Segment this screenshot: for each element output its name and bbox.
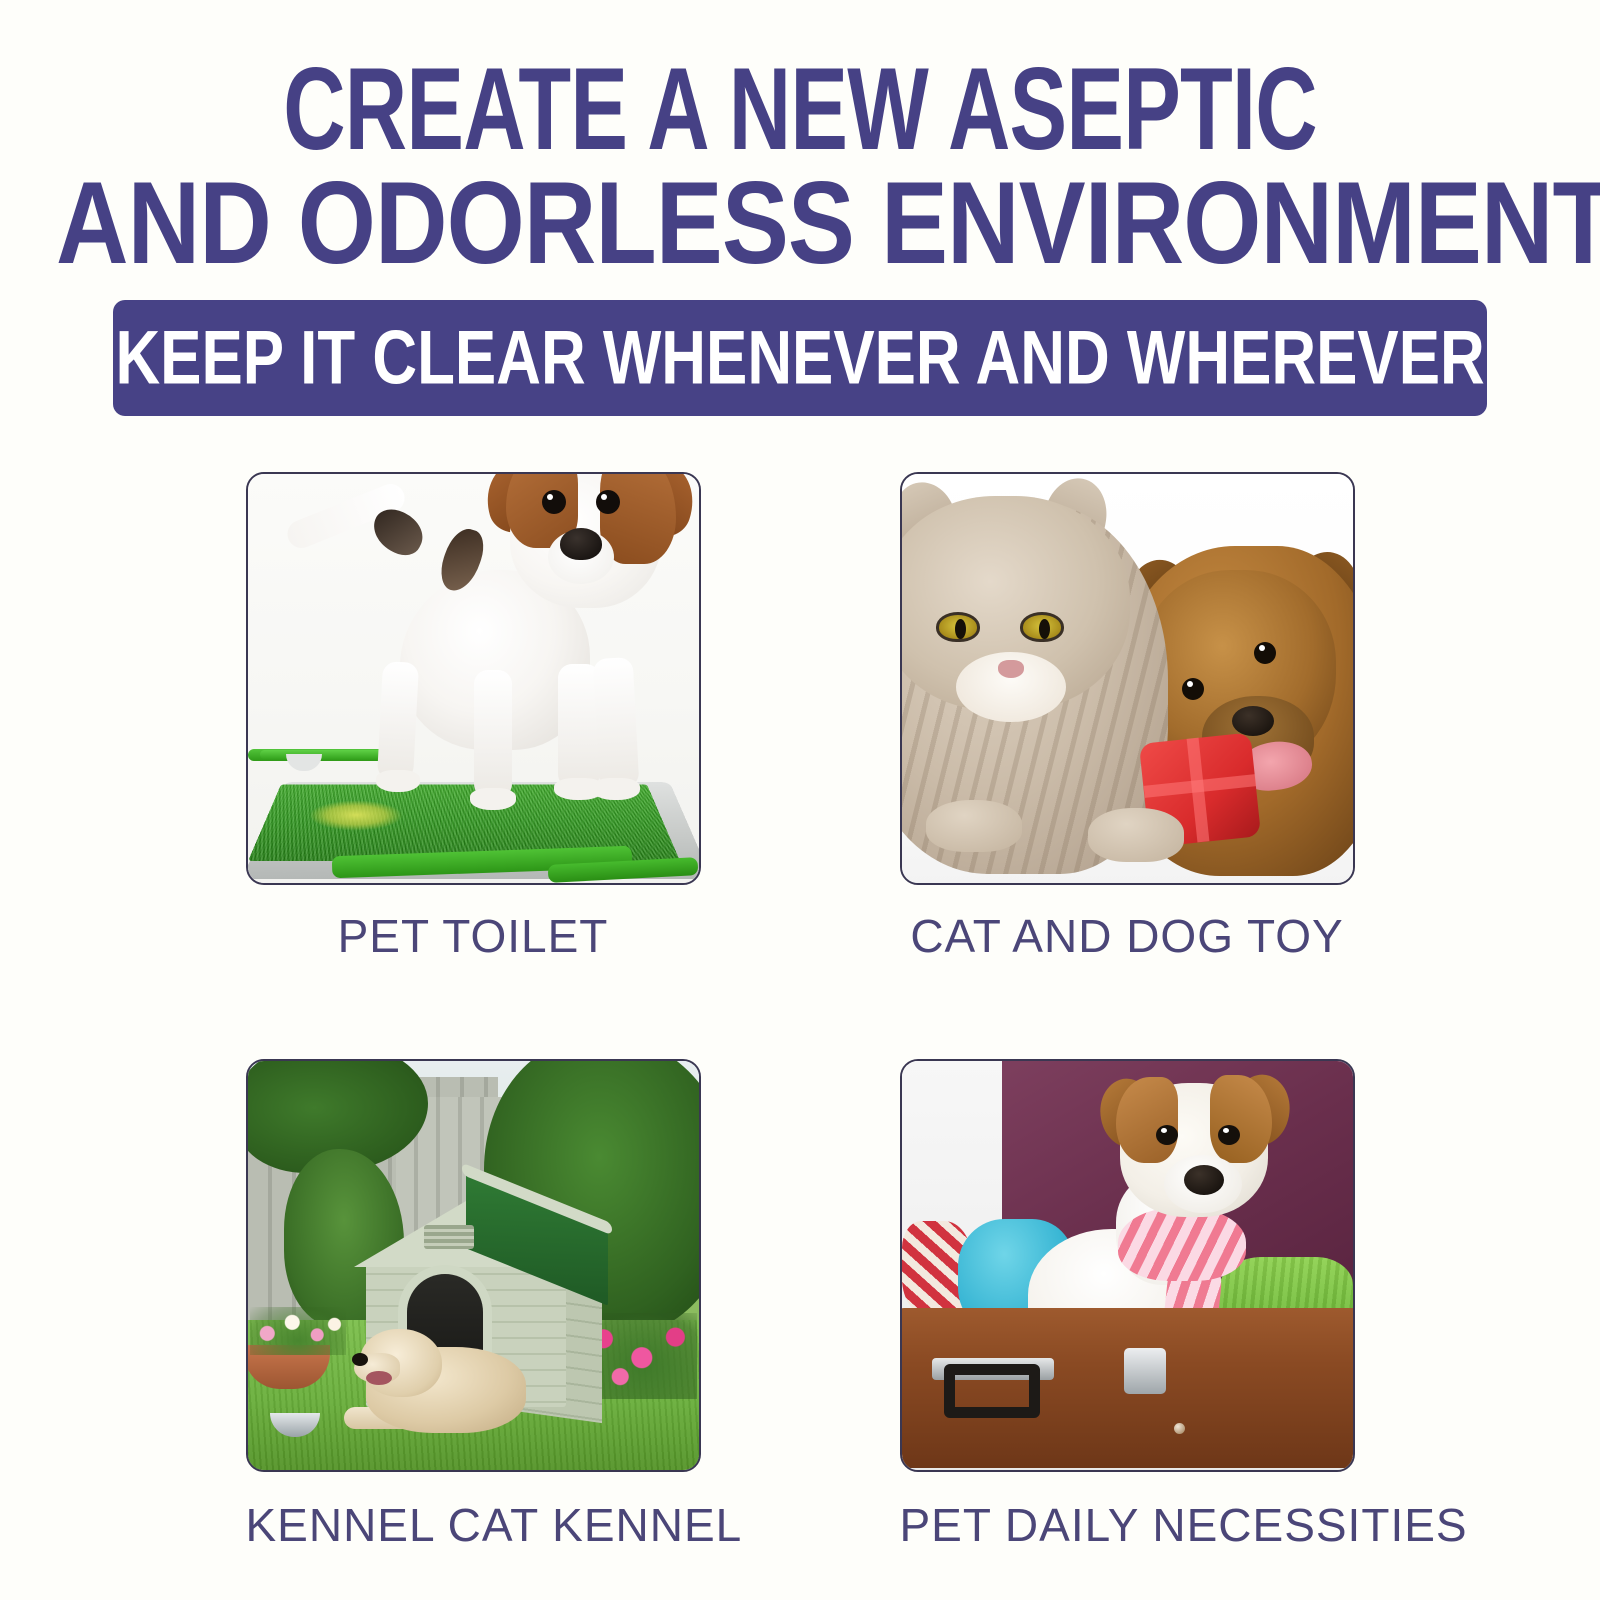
banner-wrapper: KEEP IT CLEAR WHENEVER AND WHEREVER [0, 300, 1600, 416]
cat-paw-left-shape [926, 800, 1022, 852]
cat-eye-left-shape [936, 612, 980, 642]
headline-line-1: CREATE A NEW ASEPTIC [160, 52, 1440, 166]
dog-eye-right-shape [1254, 642, 1276, 664]
puppy-leg-shape [474, 670, 512, 798]
terrier-nose-shape [1184, 1165, 1224, 1195]
cat-eye-right-shape [1020, 612, 1064, 642]
suitcase-latch-shape [1124, 1348, 1166, 1394]
photo-card-kennel[interactable] [246, 1059, 701, 1472]
feature-grid: PET TOILET [0, 472, 1600, 1552]
puppy-paw-shape [592, 778, 640, 800]
dog-nose-shape [1232, 706, 1274, 736]
retriever-mouth-shape [366, 1371, 392, 1385]
terrier-eye-right-shape [1218, 1125, 1240, 1145]
caption-pet-toilet: PET TOILET [246, 909, 701, 963]
banner-text: KEEP IT CLEAR WHENEVER AND WHEREVER [115, 319, 1484, 395]
photo-card-pet-toilet[interactable] [246, 472, 701, 885]
cat-paw-right-shape [1088, 808, 1184, 862]
feature-cell-pet-daily-necessities: PET DAILY NECESSITIES [900, 1059, 1355, 1552]
terrier-eye-left-shape [1156, 1125, 1178, 1145]
puppy-eye-left-shape [542, 490, 566, 514]
pet-toilet-photo [248, 474, 699, 883]
cat-and-dog-toy-photo [902, 474, 1353, 883]
photo-card-cat-and-dog-toy[interactable] [900, 472, 1355, 885]
puppy-eye-right-shape [596, 490, 620, 514]
pet-daily-necessities-photo [902, 1061, 1353, 1470]
feature-cell-pet-toilet: PET TOILET [246, 472, 701, 963]
puppy-paw-shape [470, 788, 516, 810]
feature-cell-cat-and-dog-toy: CAT AND DOG TOY [900, 472, 1355, 963]
headline-block: CREATE A NEW ASEPTIC AND ODORLESS ENVIRO… [0, 0, 1600, 272]
photo-card-pet-daily-necessities[interactable] [900, 1059, 1355, 1472]
cat-nose-shape [998, 660, 1024, 678]
urine-stain-shape [308, 800, 403, 830]
flowers-left-shape [250, 1307, 346, 1355]
subtitle-banner: KEEP IT CLEAR WHENEVER AND WHEREVER [113, 300, 1487, 416]
tray-notch-shape [286, 754, 322, 771]
tray-top-rail-inner-shape [260, 750, 390, 759]
puppy-nose-shape [560, 528, 602, 560]
puppy-paw-shape [376, 770, 420, 792]
suitcase-handle-shape [944, 1364, 1040, 1418]
puppy-leg-shape [592, 657, 639, 789]
feature-cell-kennel: KENNEL CAT KENNEL [246, 1059, 701, 1552]
headline-line-2: AND ODORLESS ENVIRONMENT [56, 166, 1544, 280]
kennel-vent-shape [424, 1225, 474, 1249]
retriever-nose-shape [352, 1353, 368, 1366]
caption-cat-and-dog-toy: CAT AND DOG TOY [900, 909, 1355, 963]
suitcase-rivet-shape [1174, 1423, 1185, 1434]
kennel-photo [248, 1061, 699, 1470]
dog-eye-left-shape [1182, 678, 1204, 700]
caption-kennel: KENNEL CAT KENNEL [246, 1498, 701, 1552]
pink-striped-scarf-shape [1118, 1207, 1246, 1281]
caption-pet-daily-necessities: PET DAILY NECESSITIES [900, 1498, 1355, 1552]
puppy-leg-shape [376, 661, 418, 781]
